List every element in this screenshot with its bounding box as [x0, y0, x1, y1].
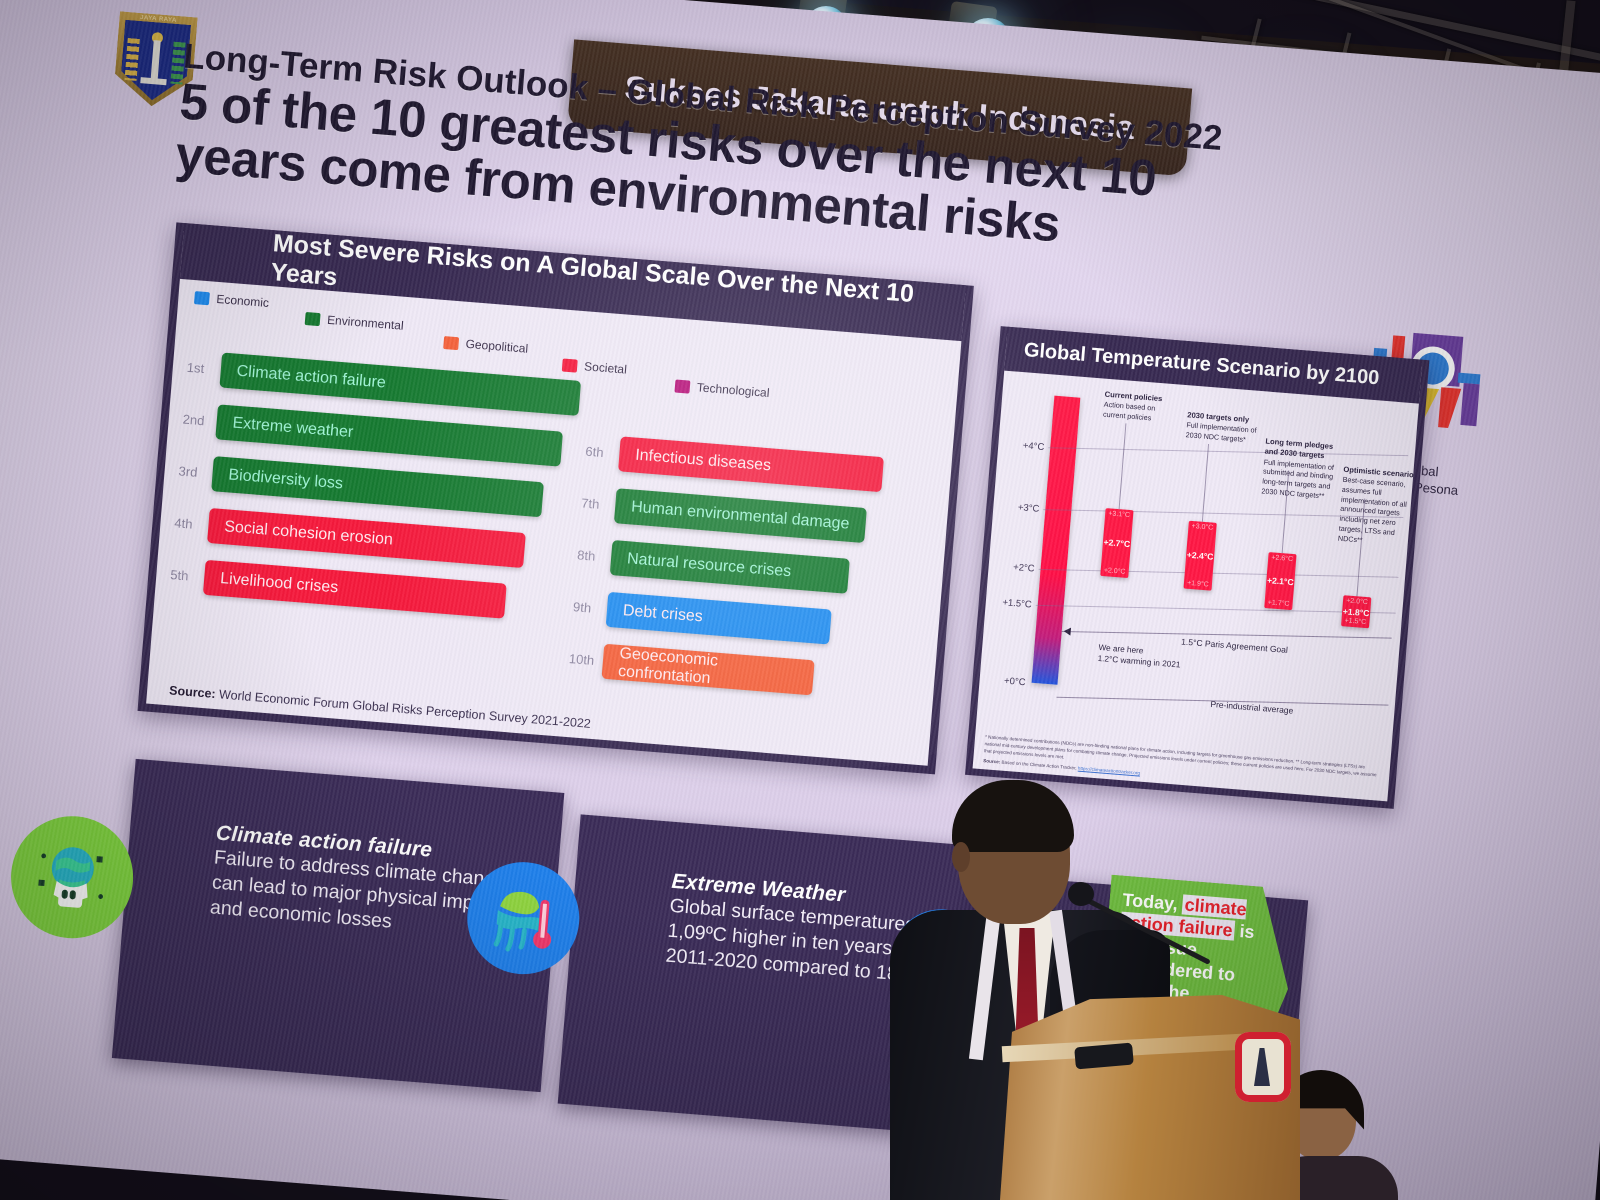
scenario-central: +1.8°C [1342, 606, 1371, 618]
risk-rank: 6th [585, 444, 620, 462]
risk-source-line: Source: World Economic Forum Global Risk… [169, 683, 592, 731]
legend-item-economic: Economic [194, 290, 270, 310]
temperature-gauge-bar [1032, 396, 1081, 685]
risk-bar: Livelihood crises [203, 560, 507, 619]
scenario-desc: Full implementation of submitted and bin… [1261, 457, 1334, 500]
risk-rank: 5th [170, 567, 205, 585]
scenario-header: 2030 targets onlyFull implementation of … [1185, 410, 1259, 445]
scenario-desc: Action based on current policies [1103, 400, 1156, 422]
scenario-high: +2.0°C [1343, 597, 1371, 606]
legend-label-societal: Societal [584, 359, 628, 376]
risk-row[interactable]: 10thGeoeconomic confrontation [568, 641, 815, 695]
legend-swatch-environmental [305, 311, 321, 325]
risk-rank: 3rd [178, 463, 213, 481]
globe-fist-icon [6, 812, 137, 943]
projection-screen-wall: JAYA RAYA Sukses Jakarta untuk Indonesia… [0, 0, 1600, 1200]
risk-row[interactable]: 3rdBiodiversity loss [177, 453, 544, 517]
scenario-low: +2.0°C [1100, 567, 1128, 576]
risk-source-label: Source: [169, 683, 217, 701]
scenario-bar[interactable]: +2.0°C+1.8°C+1.5°C [1341, 595, 1371, 628]
temperature-gridline [1039, 569, 1399, 578]
temperature-ytick: +0°C [991, 675, 1026, 689]
legend-item-societal: Societal [562, 358, 628, 377]
risk-label: Social cohesion erosion [224, 518, 394, 549]
risk-source-text: World Economic Forum Global Risks Percep… [219, 687, 592, 731]
risk-rank: 9th [573, 599, 608, 617]
legend-swatch-societal [562, 358, 578, 372]
scenario-central: +2.1°C [1266, 575, 1295, 587]
legend-swatch-technological [674, 379, 690, 393]
risk-column-right: 6thInfectious diseases7thHuman environme… [587, 434, 956, 463]
scenario-header: Optimistic scenarioBest-case scenario, a… [1338, 465, 1416, 549]
scenario-central: +2.7°C [1103, 537, 1132, 549]
scenario-high: +3.0°C [1188, 523, 1216, 532]
microphone-head-icon [1068, 882, 1094, 906]
risk-row[interactable]: 8thNatural resource crises [576, 537, 850, 593]
scenario-high: +3.1°C [1105, 510, 1133, 519]
legend-swatch-economic [194, 291, 210, 305]
risk-row[interactable]: 9thDebt crises [572, 589, 832, 644]
scenario-leader-line [1119, 423, 1127, 509]
risk-bar: Debt crises [606, 592, 832, 645]
risk-bar: Geoeconomic confrontation [602, 644, 815, 696]
speaker-hair [952, 780, 1074, 852]
we-are-here-arrow-icon [1063, 627, 1071, 636]
risk-row[interactable]: 7thHuman environmental damage [580, 486, 867, 543]
risk-rank: 1st [186, 360, 221, 378]
scenario-low: +1.5°C [1341, 617, 1369, 626]
risk-label: Geoeconomic confrontation [617, 644, 814, 695]
scenario-bar[interactable]: +3.1°C+2.7°C+2.0°C [1100, 508, 1133, 578]
scenario-bar[interactable]: +3.0°C+2.4°C+1.9°C [1183, 521, 1216, 591]
scenario-header: Long term pledges and 2030 targetsFull i… [1261, 437, 1337, 502]
paris-goal-line [1062, 631, 1392, 639]
legend-item-technological: Technological [674, 379, 770, 400]
speaker-ear [952, 842, 970, 872]
scenario-low: +1.9°C [1184, 580, 1212, 589]
risk-rank: 4th [174, 515, 209, 533]
risk-row[interactable]: 4thSocial cohesion erosion [173, 505, 525, 568]
legend-item-geopolitical: Geopolitical [443, 335, 529, 356]
risk-bar: Natural resource crises [610, 540, 850, 594]
we-are-here-annotation: We are here 1.2°C warming in 2021 [1097, 642, 1181, 671]
risk-rank: 8th [577, 547, 612, 565]
risk-label: Infectious diseases [635, 446, 772, 475]
legend-item-environmental: Environmental [305, 311, 405, 333]
scenario-desc: Best-case scenario, assumes full impleme… [1338, 475, 1408, 544]
temperature-gridline [1048, 447, 1408, 456]
risk-bar: Extreme weather [215, 404, 562, 466]
conference-stage-photo: JAYA RAYA Sukses Jakarta untuk Indonesia… [0, 0, 1600, 1200]
risk-label: Climate action failure [236, 362, 386, 392]
temperature-ytick: +2°C [1000, 561, 1035, 575]
risk-label: Biodiversity loss [228, 466, 344, 493]
risk-label: Extreme weather [232, 414, 354, 442]
risk-bar: Social cohesion erosion [207, 508, 526, 568]
risk-row[interactable]: 5thLivelihood crises [169, 557, 507, 619]
temperature-ytick: +3°C [1005, 501, 1040, 515]
risk-label: Natural resource crises [626, 550, 791, 581]
risk-row[interactable]: 2ndExtreme weather [181, 402, 562, 467]
severe-risks-panel: Most Severe Risks on A Global Scale Over… [137, 222, 973, 774]
risk-label: Debt crises [622, 602, 703, 626]
risk-rank: 2nd [182, 412, 217, 430]
risk-label: Livelihood crises [220, 570, 339, 597]
legend-label-technological: Technological [696, 380, 770, 400]
risk-row[interactable]: 6thInfectious diseases [584, 434, 884, 493]
risk-bar: Infectious diseases [618, 436, 884, 492]
temperature-ytick: +1.5°C [997, 597, 1032, 611]
legend-label-environmental: Environmental [327, 313, 405, 333]
scenario-bar[interactable]: +2.6°C+2.1°C+1.7°C [1264, 552, 1296, 610]
risk-rank: 10th [568, 651, 603, 669]
legend-label-geopolitical: Geopolitical [465, 337, 529, 356]
risk-rank: 7th [581, 495, 616, 513]
scenario-low: +1.7°C [1264, 599, 1292, 608]
global-temperature-panel: Global Temperature Scenario by 2100 +4°C… [965, 326, 1429, 809]
paris-goal-label: 1.5°C Paris Agreement Goal [1181, 636, 1288, 654]
scenario-header: Current policiesAction based on current … [1103, 390, 1177, 425]
risk-bar: Biodiversity loss [211, 456, 544, 517]
scenario-leader-line [1202, 444, 1209, 522]
risk-bar: Human environmental damage [614, 488, 867, 543]
scenario-high: +2.6°C [1268, 554, 1296, 563]
legend-label-economic: Economic [216, 292, 270, 310]
temperature-ytick: +4°C [1010, 439, 1045, 453]
legend-swatch-geopolitical [443, 336, 459, 350]
scenario-central: +2.4°C [1186, 550, 1215, 562]
risk-label: Human environmental damage [631, 498, 851, 533]
temperature-panel-title: Global Temperature Scenario by 2100 [1004, 327, 1422, 404]
